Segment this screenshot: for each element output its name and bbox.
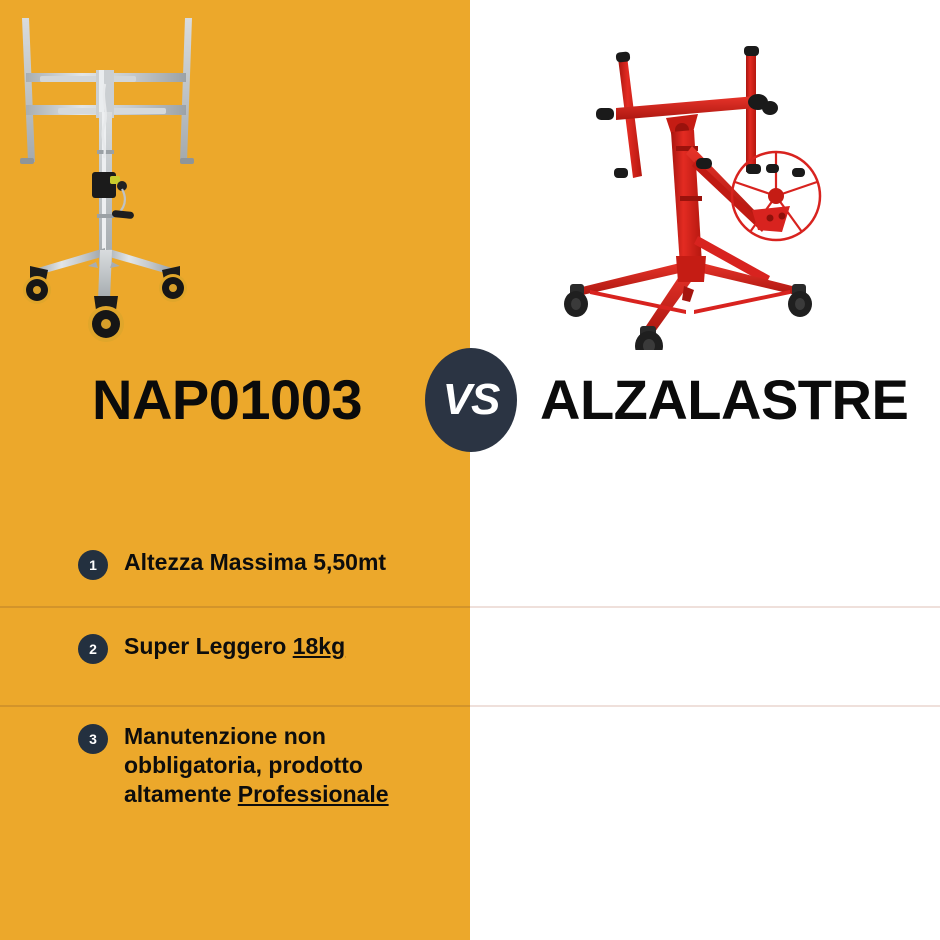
vs-badge: VS <box>425 348 517 452</box>
left-feature-text-3-highlight: Professionale <box>238 781 389 807</box>
left-feature-number-2: 2 <box>78 634 108 664</box>
row-divider-2-left <box>0 705 470 707</box>
red-lift-image <box>470 0 940 350</box>
left-feature-row-2: 2 Super Leggero 18kg <box>78 632 448 664</box>
silver-lift-image <box>0 0 470 350</box>
row-divider-2 <box>0 705 940 707</box>
left-feature-number-3: 3 <box>78 724 108 754</box>
left-feature-text-2: Super Leggero 18kg <box>124 632 345 661</box>
left-feature-text-2-highlight: 18kg <box>293 633 345 659</box>
left-feature-row-1: 1 Altezza Massima 5,50mt <box>78 548 448 580</box>
comparison-infographic: NAP01003 ALZALASTRE VS 1 Altezza Massima… <box>0 0 940 940</box>
row-divider-1-right <box>470 606 940 608</box>
row-divider-2-right <box>470 705 940 707</box>
feature-comparison-table: 1 Altezza Massima 5,50mt 2 Super Leggero… <box>0 520 940 940</box>
left-product-title: NAP01003 <box>0 350 400 450</box>
left-feature-text-3: Manutenzione non obbligatoria, prodotto … <box>124 722 424 809</box>
left-feature-text-1: Altezza Massima 5,50mt <box>124 548 386 577</box>
left-feature-row-3: 3 Manutenzione non obbligatoria, prodott… <box>78 722 448 809</box>
row-divider-1 <box>0 606 940 608</box>
left-feature-number-1: 1 <box>78 550 108 580</box>
product-image-zone <box>0 0 940 350</box>
right-product-title: ALZALASTRE <box>540 350 940 450</box>
left-feature-text-1-main: Altezza Massima 5,50mt <box>124 549 386 575</box>
row-divider-1-left <box>0 606 470 608</box>
left-feature-text-2-main: Super Leggero <box>124 633 293 659</box>
